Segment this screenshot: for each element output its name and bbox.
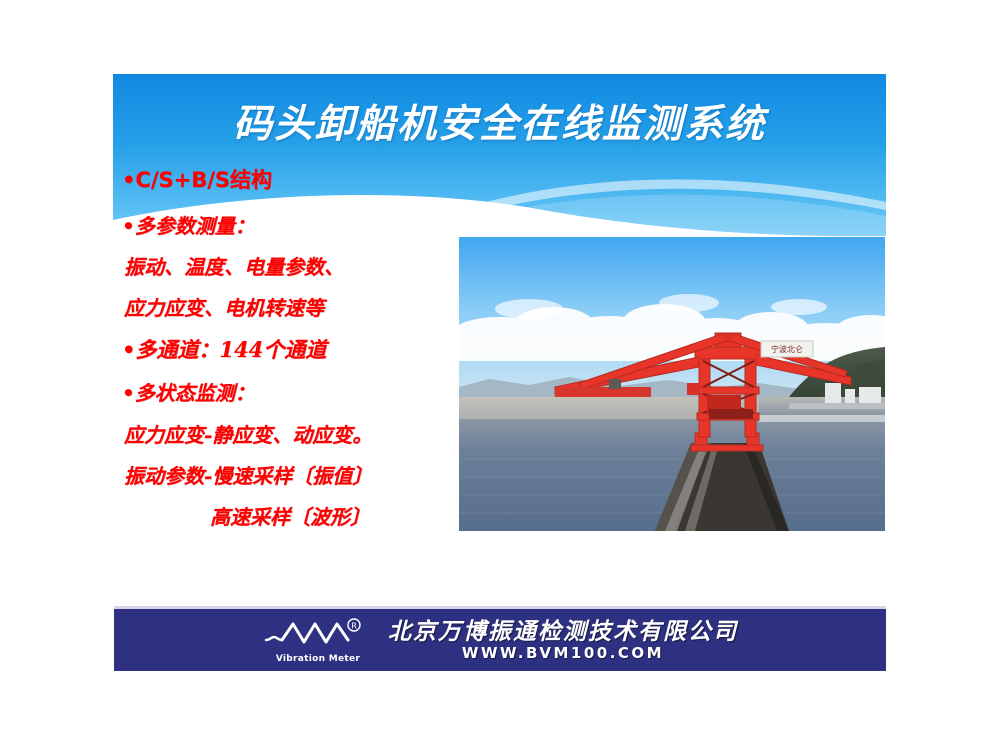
page-title: 码头卸船机安全在线监测系统 [113,100,886,148]
company-name: 北京万博振通检测技术有限公司 [388,620,738,643]
bullet-multi-state-1: 应力应变-静应变、动应变。 [124,423,472,447]
bullet-multi-param-2: 应力应变、电机转速等 [124,296,472,320]
vibration-meter-logo: R Vibration Meter [262,616,374,664]
company-website[interactable]: WWW.BVM100.COM [462,646,664,661]
bullet-cs-bs: •C/S+B/S结构 [122,168,472,192]
bullet-multi-param-head: •多参数测量： [122,214,472,238]
slide-canvas: 码头卸船机安全在线监测系统 •C/S+B/S结构 •多参数测量： 振动、温度、电… [0,0,1000,750]
bullet-multi-state-3: 高速采样〔波形〕 [210,505,472,529]
waveform-logo-icon: R [262,616,374,654]
footer-text-block: 北京万博振通检测技术有限公司 WWW.BVM100.COM [388,620,738,661]
dock-unloader-photo: 宁波北仑 [459,237,885,531]
photo-illustration: 宁波北仑 [459,237,885,531]
bullet-multi-param-1: 振动、温度、电量参数、 [124,255,472,279]
bullet-list: •C/S+B/S结构 •多参数测量： 振动、温度、电量参数、 应力应变、电机转速… [122,168,472,529]
registered-mark-icon: R [351,622,357,631]
logo-caption: Vibration Meter [264,654,372,664]
bullet-multi-state-2: 振动参数-慢速采样〔振值〕 [124,464,472,488]
footer-bar: R Vibration Meter 北京万博振通检测技术有限公司 WWW.BVM… [114,609,886,671]
bullet-multi-state-head: •多状态监测： [122,381,472,405]
crane-sign-text: 宁波北仑 [771,344,803,354]
bullet-multi-channel: •多通道：144个通道 [122,338,472,362]
